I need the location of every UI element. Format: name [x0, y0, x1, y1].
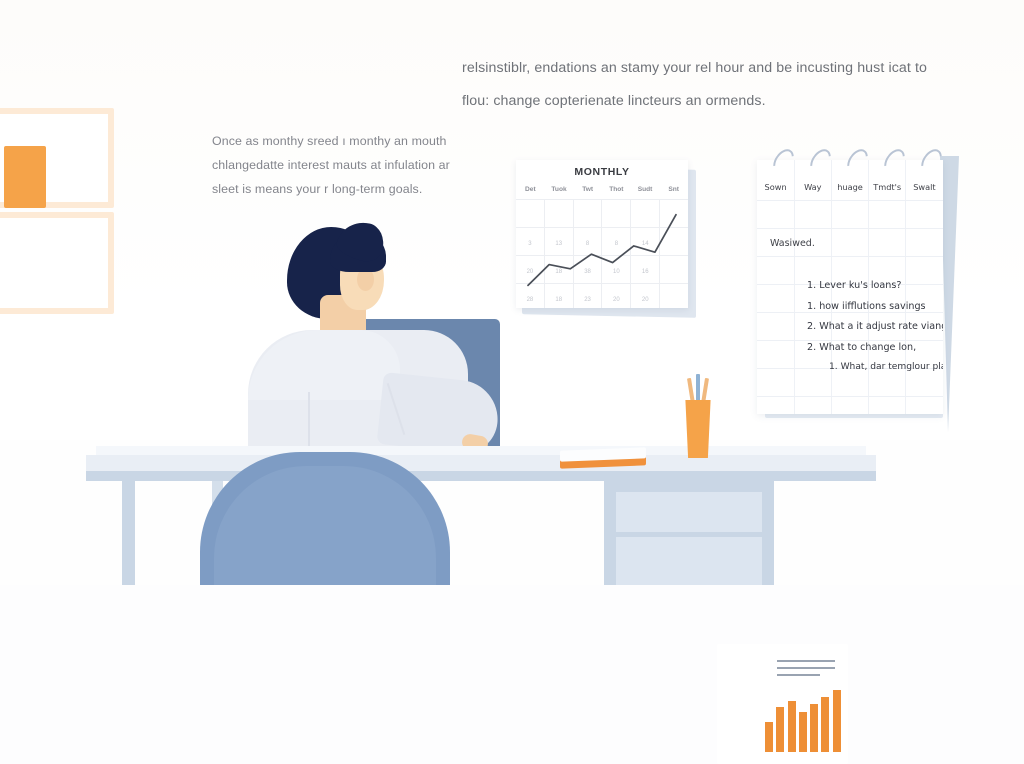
desk-leg-left [122, 481, 135, 585]
flipchart-list-item: 2. What to change lon, [807, 342, 943, 353]
screen-bar [788, 701, 796, 752]
calendar-day-header: Snt [659, 183, 688, 199]
flipchart-list-item: 1. how iifflutions savings [807, 301, 943, 312]
screen-bar-chart [765, 690, 841, 752]
calendar-cell: 10 [601, 256, 630, 283]
calendar-grid: 3 13 8 8 14 20 18 38 10 16 28 18 23 20 2… [516, 199, 688, 308]
flipchart-question-list: 1. Lever ku's loans? 1. how iifflutions … [767, 280, 943, 382]
calendar-cell [659, 200, 688, 227]
flipchart-list-item: 1. Lever ku's loans? [807, 280, 943, 291]
flipchart-column-header: huage [831, 182, 868, 192]
wall-frame-bottom [0, 212, 114, 314]
screen-bar [833, 690, 841, 752]
flipchart-spiral-rings [757, 146, 943, 172]
calendar-cell: 8 [573, 228, 602, 255]
flipchart-subtitle: Wasiwed. [770, 238, 815, 249]
wall-frames [0, 108, 114, 314]
calendar-cell: 20 [516, 256, 544, 283]
calendar-week-row [516, 199, 688, 227]
calendar-week-row: 3 13 8 8 14 [516, 227, 688, 255]
spiral-ring-icon [806, 145, 835, 176]
calendar-cell [516, 200, 544, 227]
illustration-canvas: relsinstiblr, endations an stamy your re… [0, 0, 1024, 585]
calendar-cell [659, 256, 688, 283]
calendar-title: MONTHLY [516, 166, 688, 178]
flipchart-column-header: Tmdt's [869, 182, 906, 192]
calendar-cell: 14 [630, 228, 659, 255]
flipchart-list-item: 1. What, dar temglour planag? [807, 362, 943, 372]
spiral-ring-icon [917, 145, 946, 176]
flipchart-column-header: Way [794, 182, 831, 192]
cabinet-drawer-bottom [616, 537, 762, 585]
calendar-day-header: Thot [602, 183, 631, 199]
calendar-cell: 16 [630, 256, 659, 283]
cabinet-drawer-top [616, 492, 762, 532]
calendar-cell: 20 [630, 284, 659, 308]
orange-decor-block [4, 146, 46, 208]
calendar-day-header: Tuok [545, 183, 574, 199]
desk-front-edge [86, 471, 876, 481]
calendar-week-row: 20 18 38 10 16 [516, 255, 688, 283]
screen-bar [810, 704, 818, 752]
calendar-cell: 13 [544, 228, 573, 255]
flipchart-column-header: Sown [757, 182, 794, 192]
calendar-cell [659, 228, 688, 255]
calendar-cell: 3 [516, 228, 544, 255]
calendar-cell [659, 284, 688, 308]
wall-calendar: MONTHLY Det Tuok Twt Thot Sudt Snt 3 13 … [516, 160, 688, 308]
calendar-cell: 18 [544, 284, 573, 308]
desk-top-edge [86, 455, 876, 471]
spiral-ring-icon [769, 145, 798, 176]
calendar-week-row: 28 18 23 20 20 [516, 283, 688, 308]
calendar-cell [544, 200, 573, 227]
calendar-cell [630, 200, 659, 227]
spiral-ring-icon [880, 145, 909, 176]
pencil-icon [696, 374, 700, 404]
calendar-cell: 8 [601, 228, 630, 255]
calendar-day-header: Det [516, 183, 545, 199]
screen-bar [765, 722, 773, 752]
shirt-fold-line [308, 392, 310, 452]
left-paragraph: Once as monthy sreed ı monthy an mouth c… [212, 130, 474, 201]
calendar-day-header: Sudt [631, 183, 660, 199]
calendar-cell: 38 [573, 256, 602, 283]
top-paragraph: relsinstiblr, endations an stamy your re… [462, 52, 948, 119]
calendar-day-headers: Det Tuok Twt Thot Sudt Snt [516, 183, 688, 199]
calendar-day-header: Twt [573, 183, 602, 199]
monitor-screen [717, 644, 848, 764]
calendar-cell: 28 [516, 284, 544, 308]
flipchart-board: Sown Way huage Tmdt's Swalt Wasiwed. 1. … [757, 160, 943, 414]
calendar-cell [601, 200, 630, 227]
calendar-cell: 23 [573, 284, 602, 308]
spiral-ring-icon [843, 145, 872, 176]
screen-bar [821, 697, 829, 752]
screen-text-lines [777, 660, 835, 681]
screen-bar [799, 712, 807, 752]
flipchart-column-headers: Sown Way huage Tmdt's Swalt [757, 182, 943, 192]
flipchart-column-header: Swalt [906, 182, 943, 192]
flipchart-list-item: 2. What a it adjust rate viangs [807, 321, 943, 332]
calendar-cell: 20 [601, 284, 630, 308]
calendar-cell [573, 200, 602, 227]
calendar-cell: 18 [544, 256, 573, 283]
screen-bar [776, 707, 784, 752]
